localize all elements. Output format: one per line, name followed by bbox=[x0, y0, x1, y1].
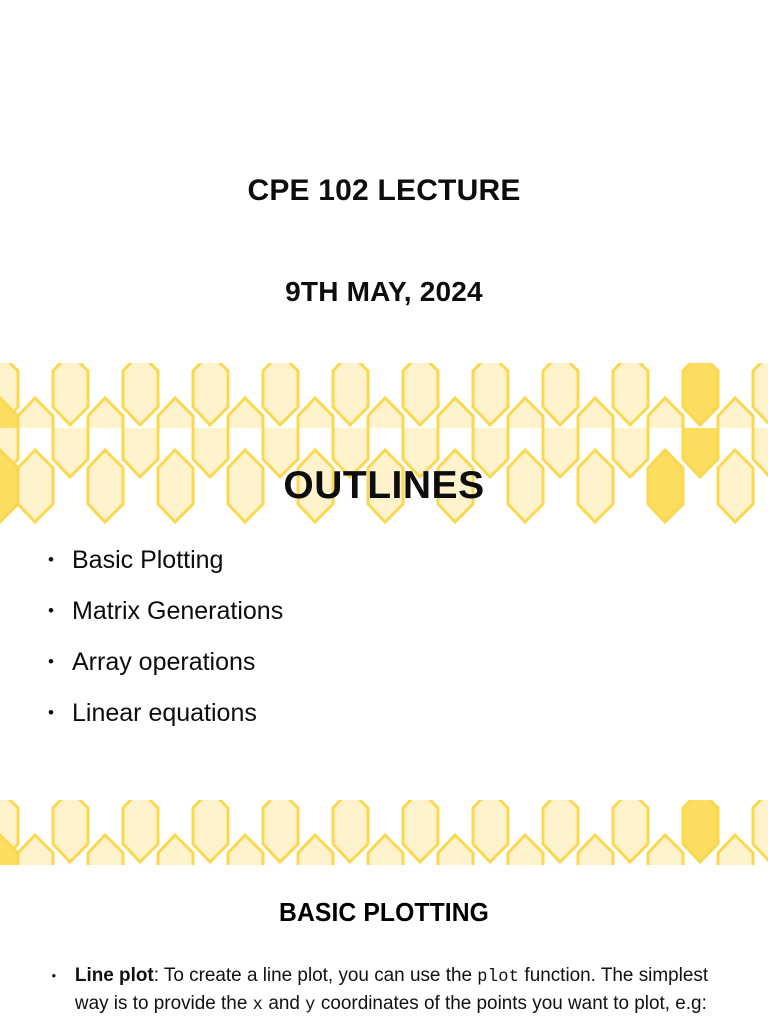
list-item-text-3: and bbox=[263, 992, 305, 1014]
code-x: x bbox=[253, 995, 263, 1015]
list-item-lead: Line plot bbox=[75, 964, 154, 986]
basic-plotting-body-list: Line plot: To create a line plot, you ca… bbox=[40, 963, 740, 1018]
list-item-text-4: coordinates of the points you want to pl… bbox=[316, 992, 707, 1014]
slide-title: CPE 102 LECTURE 9TH MAY, 2024 bbox=[0, 0, 768, 428]
slide-outlines: OUTLINES Basic Plotting Matrix Generatio… bbox=[0, 428, 768, 865]
code-plot: plot bbox=[477, 967, 519, 987]
section-heading-basic-plotting: BASIC PLOTTING bbox=[19, 897, 749, 928]
list-item: Array operations bbox=[36, 637, 726, 688]
list-item-text-1: : To create a line plot, you can use the bbox=[154, 964, 478, 986]
honeycomb-band-bottom bbox=[0, 800, 768, 865]
slide-basic-plotting: BASIC PLOTTING Line plot: To create a li… bbox=[0, 865, 768, 1024]
list-item: Linear equations bbox=[36, 688, 726, 739]
list-item: Line plot: To create a line plot, you ca… bbox=[40, 963, 719, 1018]
slide-deck[interactable]: CPE 102 LECTURE 9TH MAY, 2024 bbox=[0, 0, 768, 1024]
code-y: y bbox=[305, 995, 315, 1015]
section-heading-outlines: OUTLINES bbox=[0, 464, 768, 509]
page-subtitle: 9TH MAY, 2024 bbox=[0, 275, 768, 309]
list-item: Matrix Generations bbox=[36, 586, 726, 637]
list-item: Basic Plotting bbox=[36, 535, 726, 586]
honeycomb-band-bottom bbox=[0, 363, 768, 428]
outlines-bullet-list: Basic Plotting Matrix Generations Array … bbox=[36, 535, 726, 739]
page-title: CPE 102 LECTURE bbox=[0, 173, 768, 209]
